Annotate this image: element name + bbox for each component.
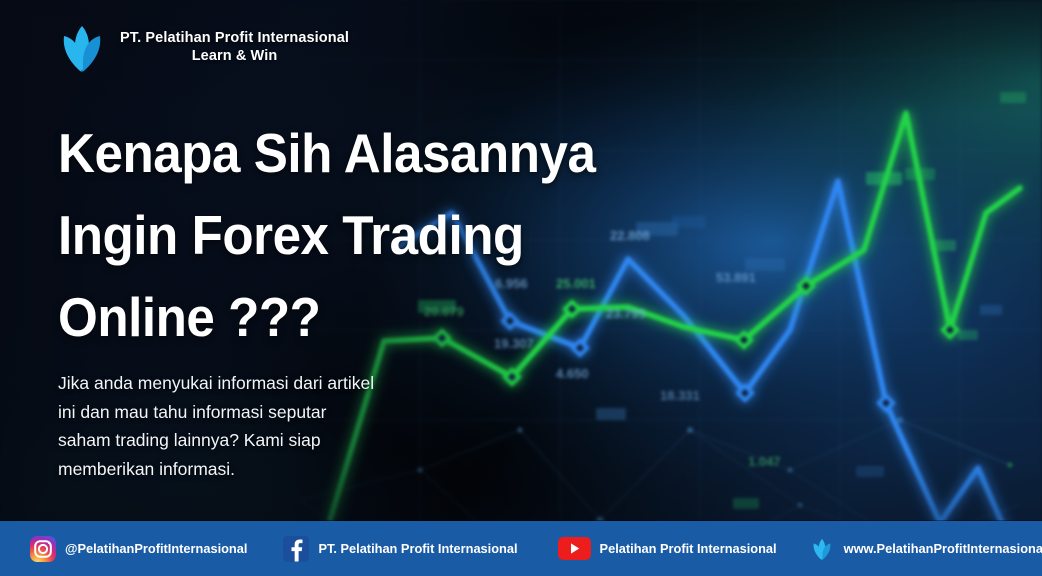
body-line-3: saham trading lainnya? Kami siap (58, 426, 458, 455)
social-footer-bar: @PelatihanProfitInternasional PT. Pelati… (0, 521, 1042, 576)
social-link-instagram[interactable]: @PelatihanProfitInternasional (30, 536, 247, 562)
body-paragraph: Jika anda menyukai informasi dari artike… (58, 369, 458, 483)
headline-line-3: Online ??? (58, 276, 635, 358)
brand-text-block: PT. Pelatihan Profit Internasional Learn… (120, 30, 349, 65)
website-url: www.PelatihanProfitInternasional.com (844, 541, 1042, 556)
facebook-icon (283, 536, 309, 562)
brand-name: PT. Pelatihan Profit Internasional (120, 30, 349, 48)
social-link-website[interactable]: www.PelatihanProfitInternasional.com (809, 537, 1042, 561)
lotus-logo-icon (809, 537, 835, 561)
headline-line-2: Ingin Forex Trading (58, 194, 635, 276)
brand-header: PT. Pelatihan Profit Internasional Learn… (58, 22, 349, 74)
youtube-channel-name: Pelatihan Profit Internasional (600, 541, 777, 556)
body-line-4: memberikan informasi. (58, 455, 458, 484)
headline-line-1: Kenapa Sih Alasannya (58, 112, 635, 194)
body-line-2: ini dan mau tahu informasi seputar (58, 398, 458, 427)
social-link-facebook[interactable]: PT. Pelatihan Profit Internasional (283, 536, 517, 562)
social-link-youtube[interactable]: Pelatihan Profit Internasional (558, 537, 777, 560)
body-line-1: Jika anda menyukai informasi dari artike… (58, 369, 458, 398)
instagram-icon (30, 536, 56, 562)
promotional-banner: 22.808 6.956 25.001 23.795 19.307 4.650 … (0, 0, 1042, 576)
page-title: Kenapa Sih Alasannya Ingin Forex Trading… (58, 112, 678, 358)
instagram-handle: @PelatihanProfitInternasional (65, 541, 247, 556)
youtube-icon (558, 537, 591, 560)
facebook-page-name: PT. Pelatihan Profit Internasional (318, 541, 517, 556)
brand-tagline: Learn & Win (120, 48, 349, 66)
lotus-logo-icon (58, 22, 106, 74)
